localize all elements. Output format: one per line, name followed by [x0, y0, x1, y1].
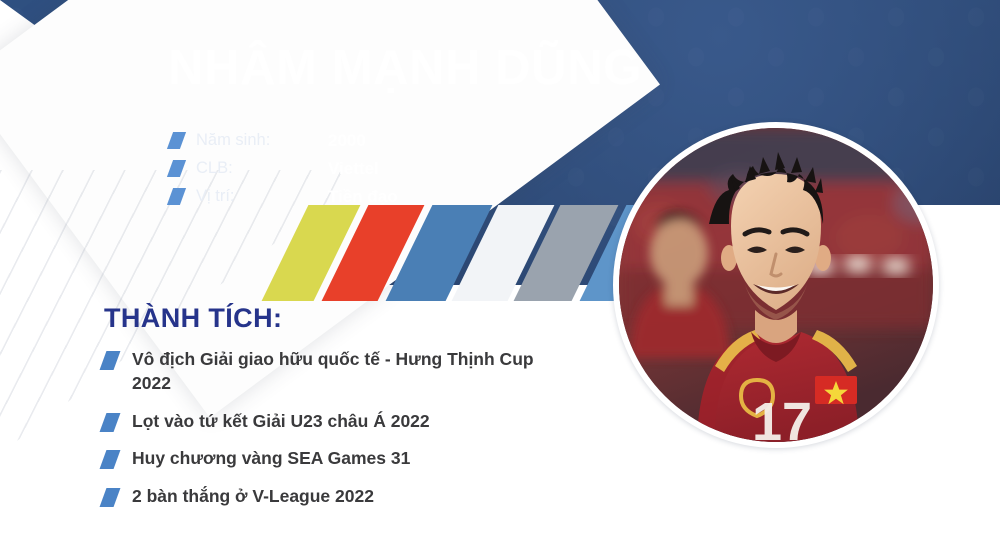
info-row: Năm sinh: 2000	[170, 128, 398, 153]
avatar: 17	[619, 128, 933, 442]
jersey-number: 17	[752, 392, 812, 442]
info-value: 2000	[328, 131, 366, 151]
parallelogram-marker-icon	[167, 160, 186, 177]
list-item: Lọt vào tứ kết Giải U23 châu Á 2022	[103, 410, 573, 434]
info-value: Tiền đạo	[328, 187, 398, 207]
info-row: Vị trí: Tiền đạo	[170, 184, 398, 209]
parallelogram-bullet-icon	[100, 413, 121, 432]
player-profile-infographic: NHÂM MẠNH DŨNG Năm sinh: 2000 CLB: Viett…	[0, 0, 1000, 550]
player-photo-ring: 17	[613, 122, 939, 448]
achievement-text: Huy chương vàng SEA Games 31	[132, 447, 410, 471]
player-info-block: Năm sinh: 2000 CLB: Viettel Vị trí: Tiền…	[170, 128, 398, 212]
achievement-text: Vô địch Giải giao hữu quốc tế - Hưng Thị…	[132, 348, 573, 396]
list-item: Huy chương vàng SEA Games 31	[103, 447, 573, 471]
achievement-text: 2 bàn thắng ở V-League 2022	[132, 485, 374, 509]
player-portrait-illustration: 17	[619, 128, 933, 442]
achievement-text: Lọt vào tứ kết Giải U23 châu Á 2022	[132, 410, 430, 434]
parallelogram-bullet-icon	[100, 351, 121, 370]
list-item: 2 bàn thắng ở V-League 2022	[103, 485, 573, 509]
info-row: CLB: Viettel	[170, 156, 398, 181]
parallelogram-marker-icon	[167, 188, 186, 205]
info-label: CLB:	[196, 159, 328, 178]
info-label: Vị trí:	[196, 187, 328, 206]
info-label: Năm sinh:	[196, 131, 328, 150]
list-item: Vô địch Giải giao hữu quốc tế - Hưng Thị…	[103, 348, 573, 396]
achievements-list: Vô địch Giải giao hữu quốc tế - Hưng Thị…	[103, 348, 573, 523]
parallelogram-marker-icon	[167, 132, 186, 149]
page-title: NHÂM MẠNH DŨNG	[168, 43, 808, 94]
parallelogram-bullet-icon	[100, 488, 121, 507]
info-value: Viettel	[328, 159, 379, 179]
parallelogram-bullet-icon	[100, 450, 121, 469]
achievements-heading: THÀNH TÍCH:	[104, 303, 282, 334]
